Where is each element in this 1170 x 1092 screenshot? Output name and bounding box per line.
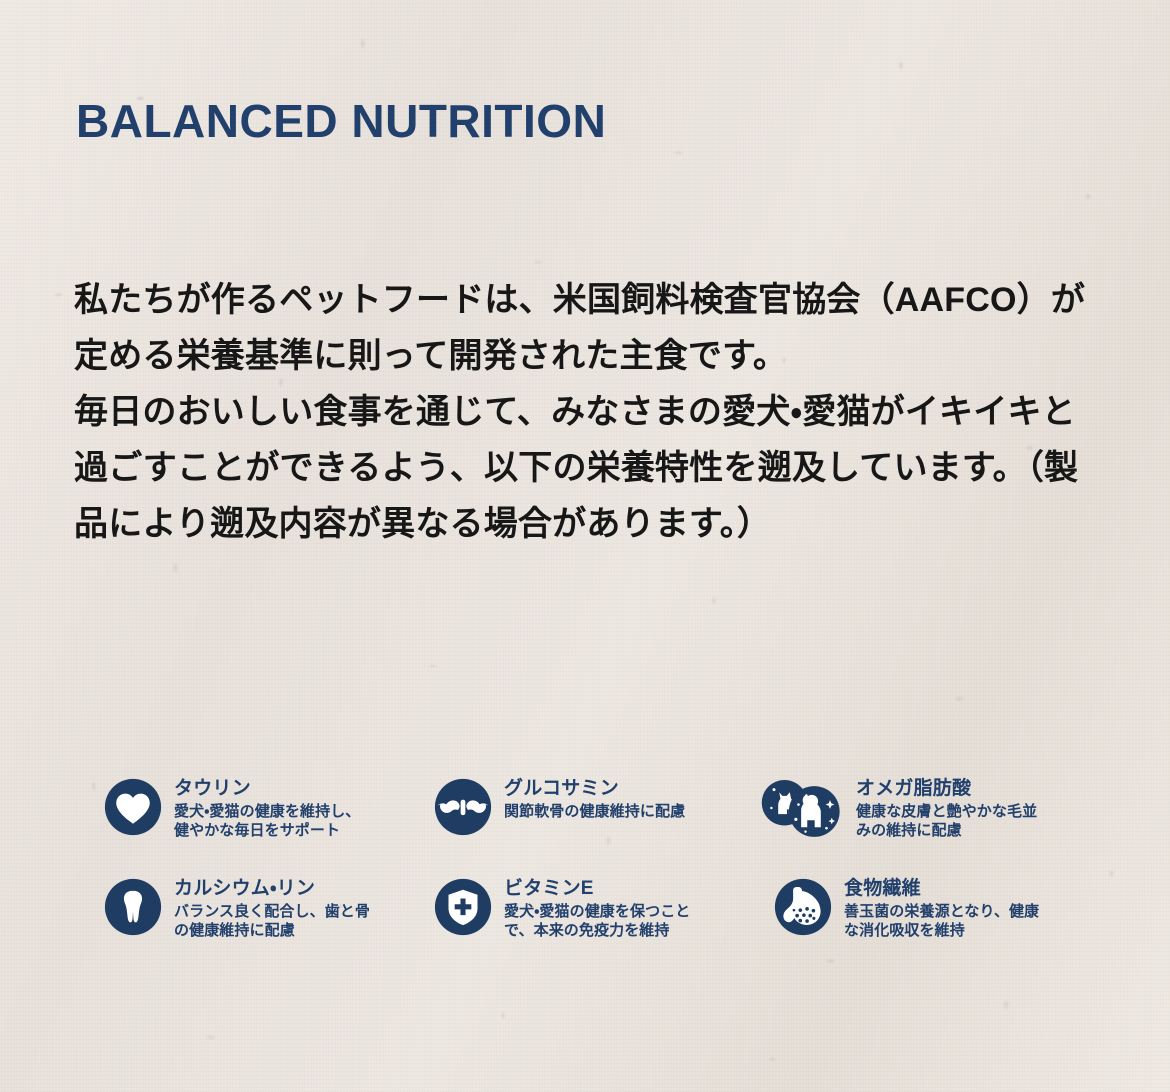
feature-text: 食物繊維 善玉菌の栄養源となり、健康 な消化吸収を維持 xyxy=(844,876,1039,940)
body-paragraph-1: 私たちが作るペットフードは、米国飼料検査官協会（AAFCO）が定める栄養基準に則… xyxy=(74,272,1098,384)
feature-item-omega-fatty-acids: オメガ脂肪酸 健康な皮膚と艶やかな毛並 みの維持に配慮 xyxy=(774,776,1104,876)
feature-title: カルシウム・リン xyxy=(174,878,370,900)
feature-text: グルコサミン 関節軟骨の健康維持に配慮 xyxy=(504,776,685,821)
feature-title: 食物繊維 xyxy=(844,878,1039,900)
feature-item-taurine: タウリン 愛犬・愛猫の健康を維持し、 健やかな毎日をサポート xyxy=(104,776,434,876)
feature-text: カルシウム・リン バランス良く配合し、歯と骨 の健康維持に配慮 xyxy=(174,876,370,940)
feature-desc-line: 関節軟骨の健康維持に配慮 xyxy=(504,803,685,820)
shield-plus-icon xyxy=(434,878,492,936)
feature-desc-line: 健康な皮膚と艶やかな毛並 xyxy=(856,803,1037,820)
feature-desc-line: な消化吸収を維持 xyxy=(844,922,965,939)
feature-item-calcium-phosphorus: カルシウム・リン バランス良く配合し、歯と骨 の健康維持に配慮 xyxy=(104,876,434,976)
feature-title: ビタミンE xyxy=(504,878,690,900)
feature-text: オメガ脂肪酸 健康な皮膚と艶やかな毛並 みの維持に配慮 xyxy=(856,776,1037,840)
feature-description: バランス良く配合し、歯と骨 の健康維持に配慮 xyxy=(174,902,370,940)
feature-item-glucosamine: グルコサミン 関節軟骨の健康維持に配慮 xyxy=(434,776,774,876)
stomach-icon xyxy=(774,878,832,936)
joint-bone-icon xyxy=(434,778,492,836)
tooth-icon xyxy=(104,878,162,936)
nutrition-features-grid: タウリン 愛犬・愛猫の健康を維持し、 健やかな毎日をサポート xyxy=(104,776,1104,976)
feature-item-dietary-fiber: 食物繊維 善玉菌の栄養源となり、健康 な消化吸収を維持 xyxy=(774,876,1104,976)
feature-desc-line: 健やかな毎日をサポート xyxy=(174,822,340,839)
feature-title: タウリン xyxy=(174,778,360,800)
body-paragraph-2: 毎日のおいしい食事を通じて、みなさまの愛犬・愛猫がイキイキと過ごすことができるよ… xyxy=(74,384,1098,552)
feature-description: 関節軟骨の健康維持に配慮 xyxy=(504,802,685,821)
feature-desc-line: 愛犬・愛猫の健康を維持し、 xyxy=(174,803,360,820)
feature-description: 善玉菌の栄養源となり、健康 な消化吸収を維持 xyxy=(844,902,1039,940)
body-copy: 私たちが作るペットフードは、米国飼料検査官協会（AAFCO）が定める栄養基準に則… xyxy=(74,272,1098,552)
feature-text: タウリン 愛犬・愛猫の健康を維持し、 健やかな毎日をサポート xyxy=(174,776,360,840)
page-content: BALANCED NUTRITION 私たちが作るペットフードは、米国飼料検査官… xyxy=(0,0,1170,1092)
heart-icon xyxy=(104,778,162,836)
feature-item-vitamin-e: ビタミンE 愛犬・愛猫の健康を保つこと で、本来の免疫力を維持 xyxy=(434,876,774,976)
feature-desc-line: バランス良く配合し、歯と骨 xyxy=(174,903,370,920)
page-title: BALANCED NUTRITION xyxy=(76,97,606,145)
feature-desc-line: 愛犬・愛猫の健康を保つこと xyxy=(504,903,690,920)
feature-title: グルコサミン xyxy=(504,778,685,800)
feature-description: 愛犬・愛猫の健康を保つこと で、本来の免疫力を維持 xyxy=(504,902,690,940)
feature-desc-line: 善玉菌の栄養源となり、健康 xyxy=(844,903,1039,920)
feature-desc-line: みの維持に配慮 xyxy=(856,822,962,839)
cat-dog-sparkle-icon xyxy=(760,778,844,838)
feature-text: ビタミンE 愛犬・愛猫の健康を保つこと で、本来の免疫力を維持 xyxy=(504,876,690,940)
feature-description: 愛犬・愛猫の健康を維持し、 健やかな毎日をサポート xyxy=(174,802,360,840)
feature-title: オメガ脂肪酸 xyxy=(856,778,1037,800)
feature-description: 健康な皮膚と艶やかな毛並 みの維持に配慮 xyxy=(856,802,1037,840)
feature-desc-line: の健康維持に配慮 xyxy=(174,922,295,939)
feature-desc-line: で、本来の免疫力を維持 xyxy=(504,922,670,939)
